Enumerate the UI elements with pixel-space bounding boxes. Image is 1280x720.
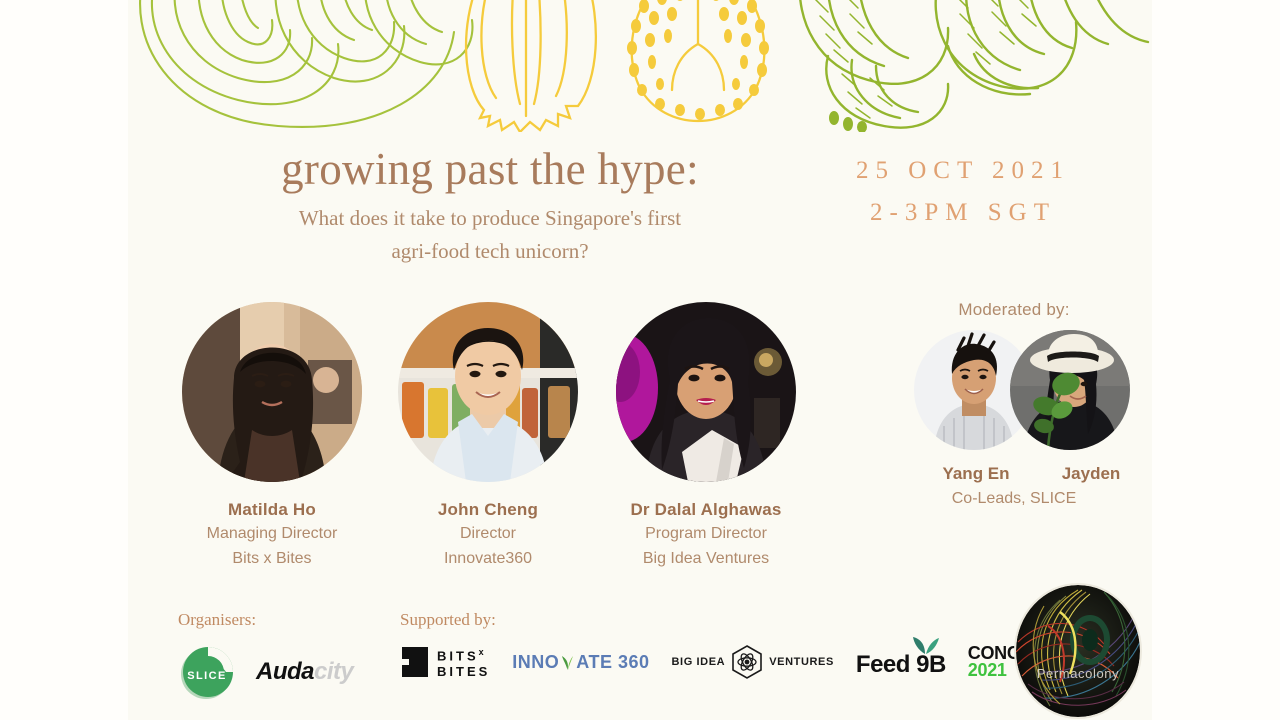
bits-x-bites-wordmark: BITSx BITES xyxy=(437,645,490,678)
organiser-logo-row: SLICE Audacity xyxy=(178,642,353,702)
speaker-card-john-cheng: John Cheng Director Innovate360 xyxy=(382,302,594,570)
moderated-by-label: Moderated by: xyxy=(876,300,1152,320)
speaker-role: Managing Director xyxy=(166,523,378,545)
moderator-name-left: Yang En xyxy=(916,464,1036,484)
svg-text:SLICE: SLICE xyxy=(187,670,226,682)
permacolony-text: Permacolony xyxy=(1037,666,1119,681)
supporter-logo-row: BITSx BITES INNO ATE 360 BIG IDEA xyxy=(400,644,1054,680)
audacity-logo-dark: Auda xyxy=(256,658,314,685)
letterbox-band-left xyxy=(0,0,128,720)
moderator-photos xyxy=(876,330,1152,450)
portrait-john-cheng xyxy=(398,302,578,482)
botanical-header-illustration xyxy=(128,0,1152,132)
footer-logos-section: Organisers: Supported by: SLICE Audacity xyxy=(128,600,1152,720)
bits-x-bites-logo[interactable]: BITSx BITES xyxy=(400,645,490,679)
portrait-jayden xyxy=(1010,330,1130,450)
innovate-360-post: ATE 360 xyxy=(576,652,649,673)
speaker-name: Matilda Ho xyxy=(166,500,378,520)
bits-x-mark: x xyxy=(479,647,484,657)
speaker-org: Innovate360 xyxy=(382,548,594,570)
moderator-names: Yang En Jayden xyxy=(876,464,1152,486)
big-idea-ventures-logo[interactable]: BIG IDEA VENTURES xyxy=(672,644,834,680)
letterbox-band-right xyxy=(1152,0,1280,720)
bits-line-2: BITES xyxy=(437,664,490,679)
poster-canvas: growing past the hype: What does it take… xyxy=(128,0,1152,720)
poster-root: growing past the hype: What does it take… xyxy=(0,0,1280,720)
ventures-text: VENTURES xyxy=(769,656,834,668)
event-time: 2-3PM SGT xyxy=(808,192,1118,234)
moderators-section: Moderated by: xyxy=(876,300,1152,508)
portrait-matilda-ho xyxy=(182,302,362,482)
event-datetime-block: 25 OCT 2021 2-3PM SGT xyxy=(808,150,1118,234)
speakers-section: Matilda Ho Managing Director Bits x Bite… xyxy=(128,300,1152,575)
speaker-card-dalal-alghawas: Dr Dalal Alghawas Program Director Big I… xyxy=(600,302,812,570)
bits-line-1: BITS xyxy=(437,649,479,664)
innovate-360-pre: INNO xyxy=(512,652,559,673)
title-block: growing past the hype: What does it take… xyxy=(170,142,810,268)
organisers-label: Organisers: xyxy=(178,610,256,630)
speaker-card-matilda-ho: Matilda Ho Managing Director Bits x Bite… xyxy=(166,302,378,570)
speaker-name: Dr Dalal Alghawas xyxy=(600,500,812,520)
event-date: 25 OCT 2021 xyxy=(808,150,1118,192)
slice-logo[interactable]: SLICE xyxy=(178,642,238,702)
big-idea-text: BIG IDEA xyxy=(672,656,726,668)
page-subtitle-line-2: agri-food tech unicorn? xyxy=(170,235,810,268)
permacolony-badge[interactable]: Permacolony xyxy=(1004,582,1152,720)
page-title: growing past the hype: xyxy=(170,142,810,196)
audacity-logo[interactable]: Audacity xyxy=(256,658,353,686)
moderator-subtitle: Co-Leads, SLICE xyxy=(876,490,1152,508)
speaker-name: John Cheng xyxy=(382,500,594,520)
supported-by-label: Supported by: xyxy=(400,610,496,630)
feed-9b-logo[interactable]: Feed 9B xyxy=(856,645,946,679)
headline-row: growing past the hype: What does it take… xyxy=(128,142,1152,282)
feed-9b-text: Feed 9B xyxy=(856,651,946,678)
portrait-dalal-alghawas xyxy=(616,302,796,482)
speaker-org: Bits x Bites xyxy=(166,548,378,570)
innovate-360-logo[interactable]: INNO ATE 360 xyxy=(512,652,649,673)
moderator-name-right: Jayden xyxy=(1036,464,1146,484)
page-subtitle-line-1: What does it take to produce Singapore's… xyxy=(170,202,810,235)
speaker-role: Director xyxy=(382,523,594,545)
audacity-logo-light: city xyxy=(314,658,353,685)
speaker-org: Big Idea Ventures xyxy=(600,548,812,570)
speaker-role: Program Director xyxy=(600,523,812,545)
